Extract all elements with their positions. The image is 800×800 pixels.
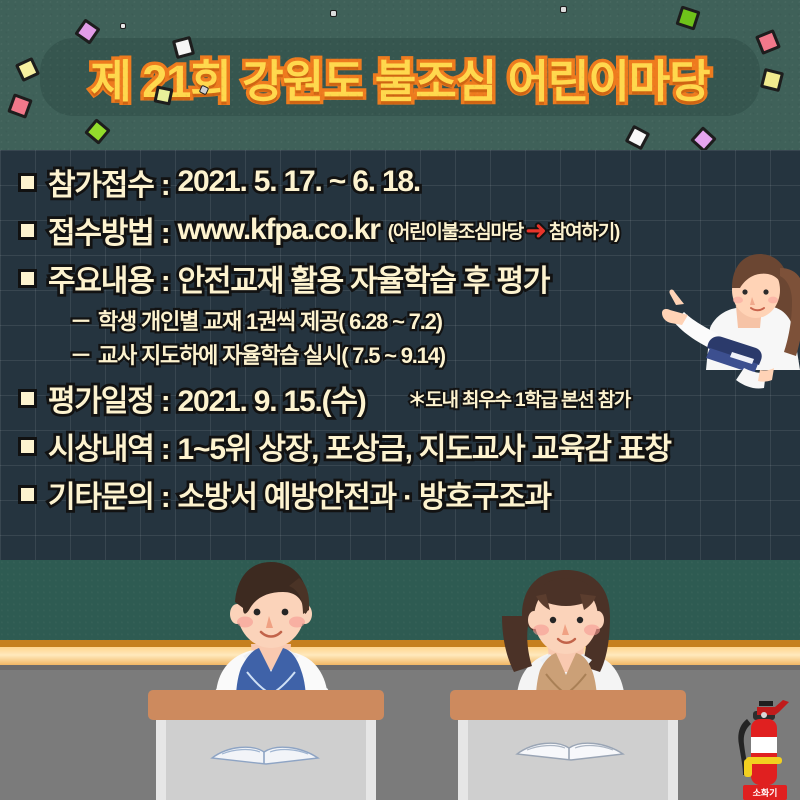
- confetti-square: [153, 85, 173, 105]
- desk-leg-right: [366, 720, 376, 800]
- info-label: 기타문의 :: [48, 472, 170, 516]
- dash-marker: －: [70, 338, 92, 370]
- sub-item-text: 교사 지도하에 자율학습 실시( 7.5 ~ 9.14): [98, 338, 445, 370]
- confetti-square: [120, 23, 126, 29]
- boy-open-book: [210, 738, 320, 766]
- info-label: 접수방법 :: [48, 208, 170, 252]
- ledge-underline: [0, 665, 800, 670]
- confetti-square: [330, 10, 337, 17]
- bullet-icon: [18, 221, 37, 240]
- fire-extinguisher-icon: 소화기: [733, 685, 795, 800]
- desk-leg-right: [668, 720, 678, 800]
- bullet-icon: [18, 437, 37, 456]
- info-value: 안전교재 활용 자율학습 후 평가: [178, 256, 550, 300]
- paren-close-text: 참여하기): [549, 217, 619, 244]
- chalk-ledge-shadow: [0, 640, 800, 647]
- info-label: 주요내용 :: [48, 256, 170, 300]
- sub-item-text: 학생 개인별 교재 1권씩 제공( 6.28 ~ 7.2): [98, 304, 442, 336]
- chalk-ledge: [0, 647, 800, 665]
- teacher-illustration: [648, 248, 800, 413]
- info-label: 평가일정 :: [48, 376, 170, 420]
- bullet-icon: [18, 389, 37, 408]
- info-row-awards: 시상내역 : 1~5위 상장, 포상금, 지도교사 교육감 표창: [18, 424, 788, 468]
- desk-leg-left: [458, 720, 468, 800]
- paren-open-text: (어린이불조심마당: [388, 217, 523, 244]
- title-pill: 제 21회 강원도 불조심 어린이마당: [40, 38, 760, 116]
- bullet-icon: [18, 485, 37, 504]
- poster-root: 제 21회 강원도 불조심 어린이마당 참가접수 : 2021. 5. 17. …: [0, 0, 800, 800]
- info-value: 2021. 5. 17. ~ 6. 18.: [178, 165, 421, 199]
- info-label: 참가접수 :: [48, 160, 170, 204]
- dash-marker: －: [70, 304, 92, 336]
- classroom-illustration: 소화기: [0, 560, 800, 800]
- page-title: 제 21회 강원도 불조심 어린이마당: [40, 38, 760, 116]
- info-row-method: 접수방법 : www.kfpa.co.kr (어린이불조심마당 ➜ 참여하기): [18, 208, 788, 252]
- right-arrow-icon: ➜: [525, 215, 547, 246]
- info-value: 2021. 9. 15.(수): [178, 376, 366, 420]
- info-label: 시상내역 :: [48, 424, 170, 468]
- bullet-icon: [18, 173, 37, 192]
- info-value: 소방서 예방안전과 · 방호구조과: [178, 472, 551, 516]
- website-url[interactable]: www.kfpa.co.kr: [178, 213, 380, 247]
- bullet-icon: [18, 269, 37, 288]
- confetti-square: [560, 6, 567, 13]
- chalkboard: [0, 560, 800, 640]
- desk-top: [450, 690, 686, 720]
- info-row-inquiry: 기타문의 : 소방서 예방안전과 · 방호구조과: [18, 472, 788, 516]
- info-value: 1~5위 상장, 포상금, 지도교사 교육감 표창: [178, 424, 671, 468]
- evaluation-note: ＊도내 최우수 1학급 본선 참가: [408, 385, 631, 412]
- desk-leg-left: [156, 720, 166, 800]
- extinguisher-label: 소화기: [753, 787, 778, 798]
- info-row-registration: 참가접수 : 2021. 5. 17. ~ 6. 18.: [18, 160, 788, 204]
- girl-open-book: [515, 734, 625, 762]
- desk-top: [148, 690, 384, 720]
